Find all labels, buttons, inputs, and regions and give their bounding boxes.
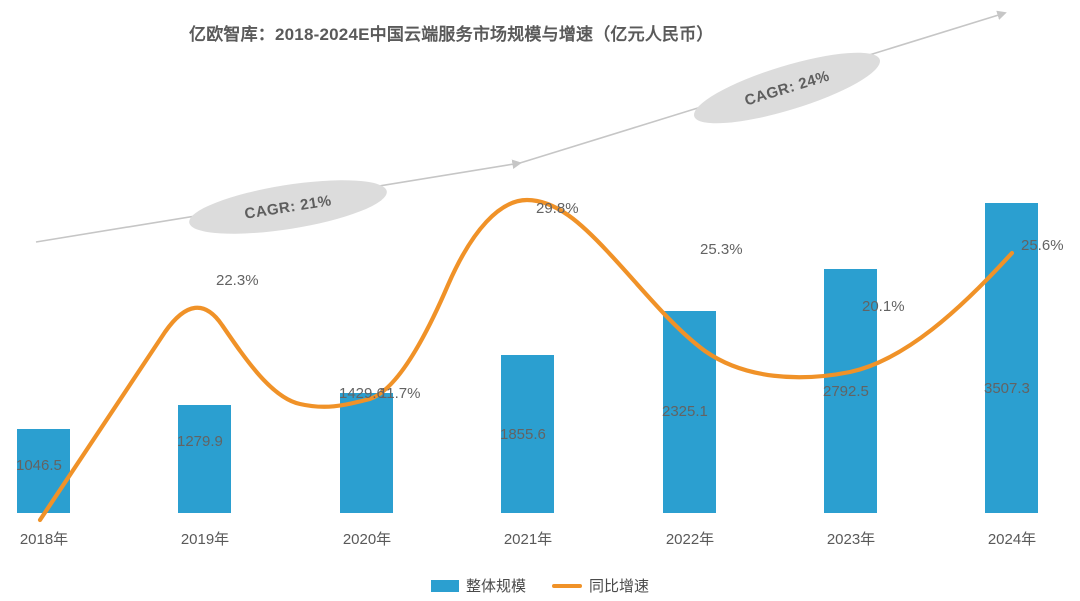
bar-value-label-2023: 2792.5 (823, 383, 869, 400)
x-axis-label-2024: 2024年 (972, 528, 1052, 549)
bar-2020[interactable] (340, 393, 393, 513)
bar-value-label-2022: 2325.1 (662, 403, 708, 420)
x-axis-label-2023: 2023年 (811, 528, 891, 549)
legend-item-bar-series[interactable]: 整体规模 (431, 575, 526, 596)
legend-item-line-series[interactable]: 同比增速 (552, 575, 649, 596)
growth-label-2021: 29.8% (536, 200, 579, 217)
legend-label-bar-series: 整体规模 (466, 575, 526, 596)
bar-value-label-2018: 1046.5 (16, 457, 62, 474)
bar-value-label-2020: 1429.6 (339, 385, 385, 402)
chart-legend: 整体规模 同比增速 (0, 575, 1080, 596)
bar-2019[interactable] (178, 405, 231, 513)
legend-swatch-bar-icon (431, 580, 459, 592)
bar-value-label-2021: 1855.6 (500, 426, 546, 443)
x-axis-label-2018: 2018年 (4, 528, 84, 549)
x-axis-label-2022: 2022年 (650, 528, 730, 549)
cagr-annotation-2: CAGR: 24% (688, 39, 886, 138)
growth-label-2023: 20.1% (862, 298, 905, 315)
legend-label-line-series: 同比增速 (589, 575, 649, 596)
bar-value-label-2019: 1279.9 (177, 433, 223, 450)
growth-label-2024: 25.6% (1021, 237, 1064, 254)
growth-label-2022: 25.3% (700, 241, 743, 258)
growth-label-2020: 11.7% (379, 385, 420, 402)
chart-container: 亿欧智库：2018-2024E中国云端服务市场规模与增速（亿元人民币） CAGR… (0, 0, 1080, 601)
chart-plot-area: CAGR: 21% CAGR: 24% (0, 0, 1080, 601)
cagr-annotation-1: CAGR: 21% (186, 170, 390, 245)
legend-swatch-line-icon (552, 584, 582, 588)
growth-label-2019: 22.3% (216, 272, 259, 289)
x-axis-label-2021: 2021年 (488, 528, 568, 549)
x-axis-label-2019: 2019年 (165, 528, 245, 549)
bar-value-label-2024: 3507.3 (984, 380, 1030, 397)
x-axis-label-2020: 2020年 (327, 528, 407, 549)
